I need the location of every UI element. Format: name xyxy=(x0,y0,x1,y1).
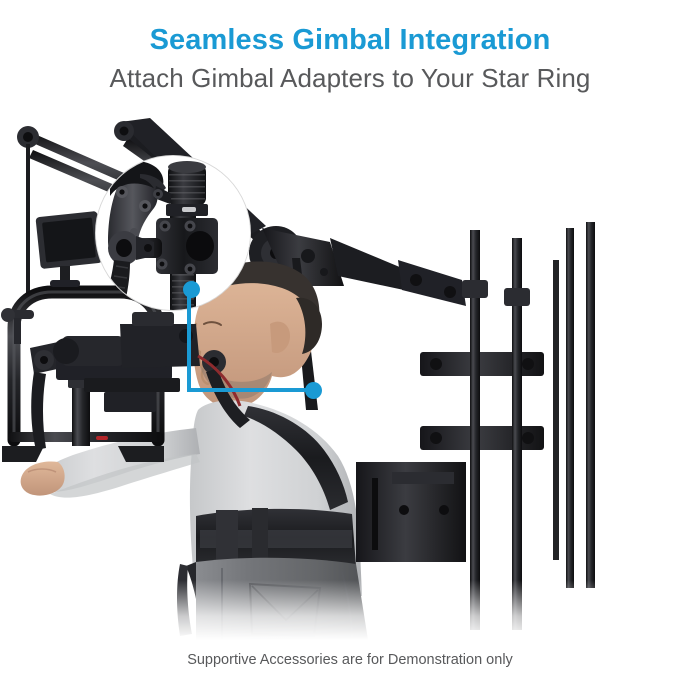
detail-callout-circle xyxy=(95,155,251,311)
callout-marker-location xyxy=(305,382,322,399)
callout-leader-line-vertical xyxy=(187,289,191,391)
callout-marker-detail xyxy=(183,281,200,298)
callout-leader-line-horizontal xyxy=(187,388,313,392)
ring-side-clamp xyxy=(1,308,34,344)
product-photograph xyxy=(0,110,700,640)
back-plate-rails xyxy=(553,222,595,588)
field-monitor xyxy=(35,211,102,287)
page-subtitle: Attach Gimbal Adapters to Your Star Ring xyxy=(0,63,700,94)
disclaimer-note: Supportive Accessories are for Demonstra… xyxy=(0,652,700,668)
page-title: Seamless Gimbal Integration xyxy=(0,24,700,57)
promo-graphic: Seamless Gimbal Integration Attach Gimba… xyxy=(0,0,700,700)
